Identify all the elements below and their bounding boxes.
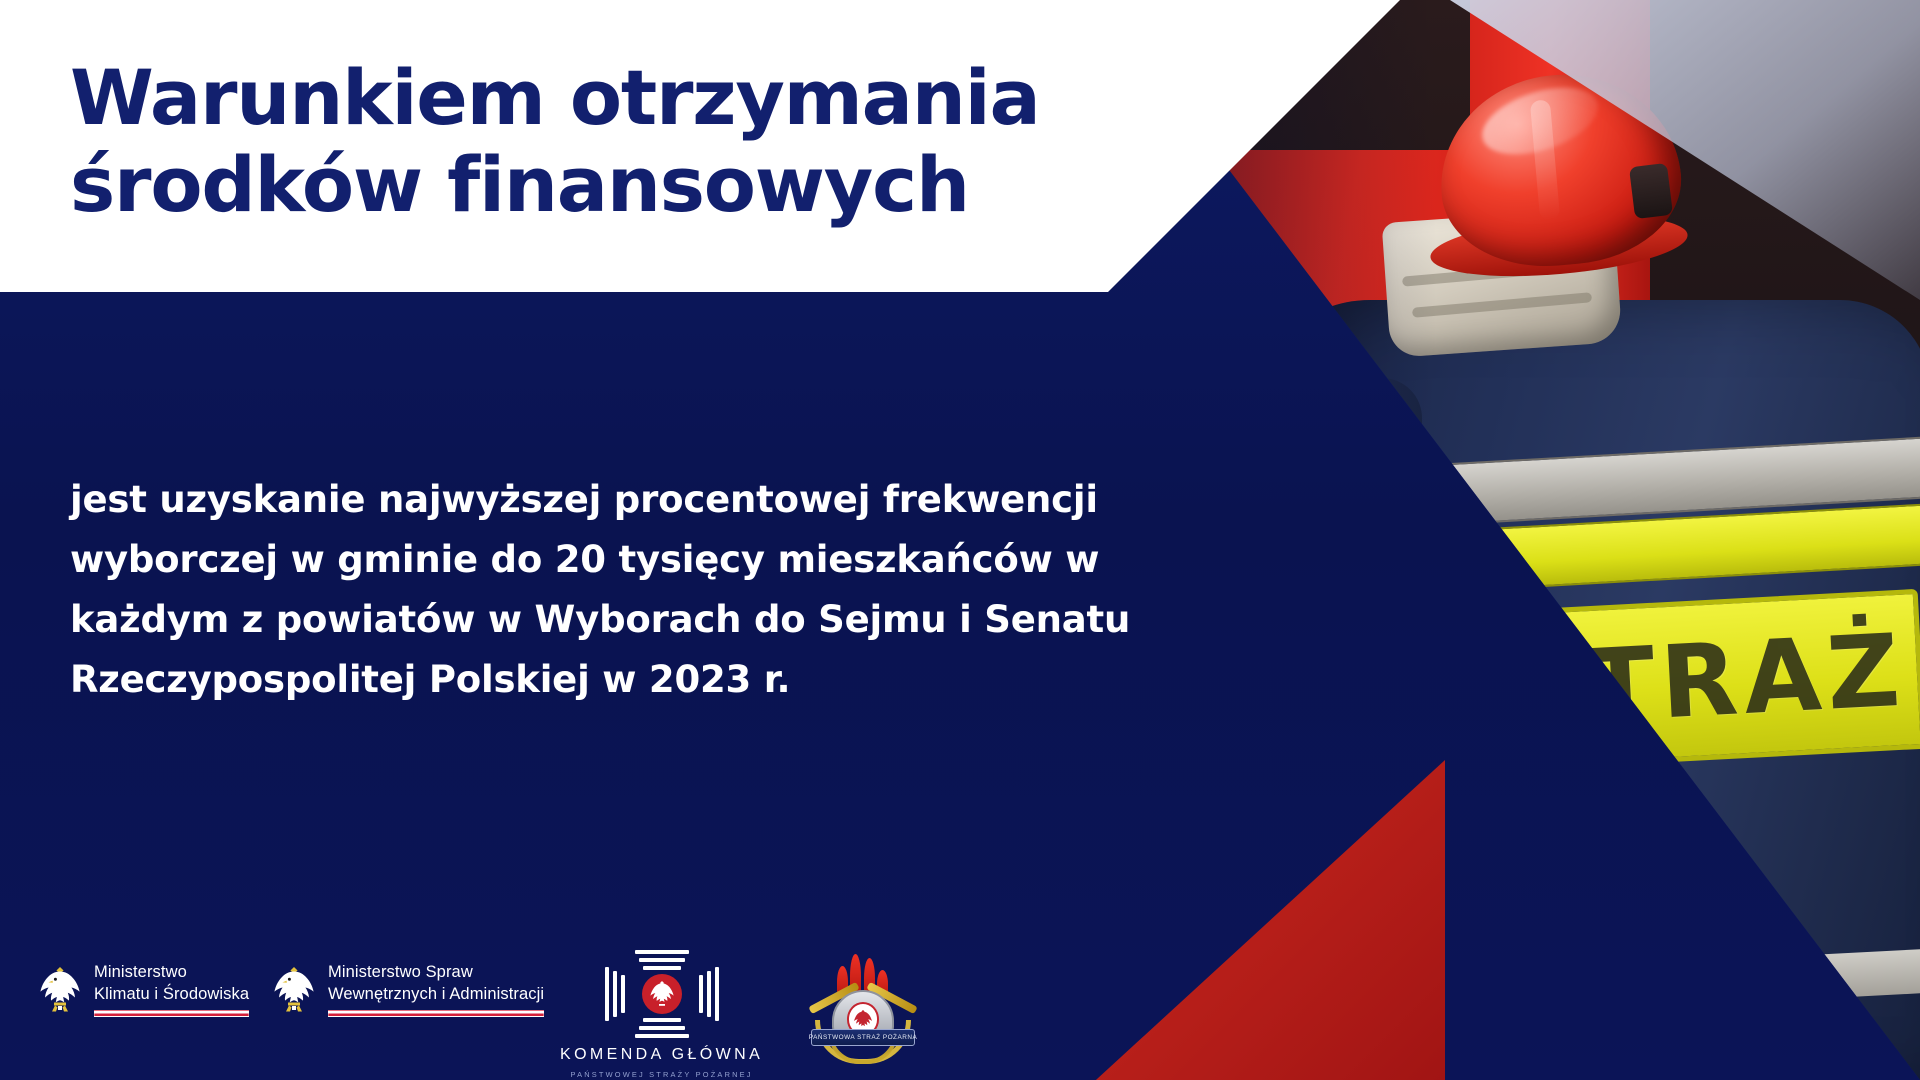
ministry-line-1: Ministerstwo Spraw: [328, 962, 544, 983]
logo-ministerstwo-klimatu: Ministerstwo Klimatu i Środowiska: [38, 962, 249, 1017]
headline-line-2: środków finansowych: [70, 142, 1130, 229]
ministry-line-2: Wewnętrznych i Administracji: [328, 984, 544, 1005]
body-line-1: jest uzyskanie najwyższej procentowej fr…: [70, 470, 1090, 530]
body-line-3: każdym z powiatów w Wyborach do Sejmu i …: [70, 590, 1090, 650]
ministry-line-2: Klimatu i Środowiska: [94, 984, 249, 1005]
logo-komenda-glowna: KOMENDA GŁÓWNA PAŃSTWOWEJ STRAŻY POŻARNE…: [560, 948, 763, 1079]
komenda-glowna-emblem-icon: [603, 948, 721, 1040]
poster: STRAŻ Warunkiem otrzymania środków finan…: [0, 0, 1920, 1080]
polish-flag-bar: [328, 1010, 544, 1017]
logo-row: Ministerstwo Klimatu i Środowiska Mi: [0, 940, 1160, 1080]
ministry-text-klimatu: Ministerstwo Klimatu i Środowiska: [94, 962, 249, 1017]
polish-eagle-icon: [38, 964, 82, 1016]
body-copy: jest uzyskanie najwyższej procentowej fr…: [70, 470, 1090, 710]
logo-mswia: Ministerstwo Spraw Wewnętrznych i Admini…: [272, 962, 544, 1017]
komenda-title: KOMENDA GŁÓWNA: [560, 1046, 763, 1064]
polish-flag-bar: [94, 1010, 249, 1017]
komenda-eagle-badge: [642, 974, 682, 1014]
komenda-subtitle: PAŃSTWOWEJ STRAŻY POŻARNEJ: [571, 1070, 753, 1079]
ministry-text-mswia: Ministerstwo Spraw Wewnętrznych i Admini…: [328, 962, 544, 1017]
body-line-4: Rzeczypospolitej Polskiej w 2023 r.: [70, 650, 1090, 710]
psp-banner-text: PAŃSTWOWA STRAŻ POŻARNA: [809, 1034, 917, 1041]
psp-banner: PAŃSTWOWA STRAŻ POŻARNA: [811, 1029, 915, 1046]
page-title: Warunkiem otrzymania środków finansowych: [70, 55, 1130, 228]
psp-emblem-icon: PAŃSTWOWA STRAŻ POŻARNA: [810, 950, 916, 1068]
headline-line-1: Warunkiem otrzymania: [70, 55, 1130, 142]
polish-eagle-icon: [272, 964, 316, 1016]
body-line-2: wyborczej w gminie do 20 tysięcy mieszka…: [70, 530, 1090, 590]
ministry-line-1: Ministerstwo: [94, 962, 249, 983]
logo-psp-emblem: PAŃSTWOWA STRAŻ POŻARNA: [810, 950, 916, 1068]
